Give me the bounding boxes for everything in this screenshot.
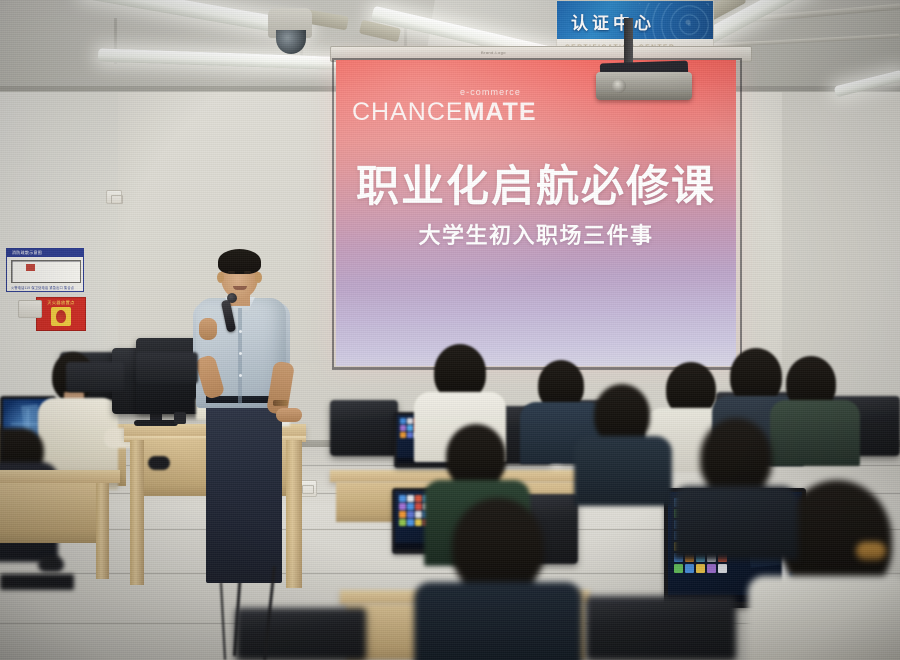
- monitor-stand: [174, 412, 186, 424]
- projector-lens-icon: [612, 79, 626, 93]
- housing-brand-label: Brand-Logo: [481, 50, 506, 55]
- student-torso: [414, 582, 582, 660]
- presenter-ear: [217, 272, 224, 283]
- presenter-mouth: [233, 286, 247, 290]
- presenter-trousers: [206, 398, 282, 583]
- monitor-foot: [134, 420, 178, 426]
- banner-chinese-text: 认证中心: [571, 9, 655, 34]
- keyboard[interactable]: [0, 574, 74, 590]
- logo-wordmark: CHANCEMATE: [352, 100, 537, 125]
- student-hair-tie: [856, 542, 886, 560]
- workstation-desk: [0, 470, 120, 483]
- student-head: [452, 498, 544, 594]
- presenter-right-hand: [276, 408, 302, 422]
- student-torso: [672, 486, 798, 560]
- student-head: [446, 424, 506, 488]
- presenter-eye: [228, 271, 235, 274]
- chair-back: [136, 352, 198, 384]
- evacuation-sign-header-text: 消防疏散示意图: [12, 250, 42, 256]
- student-torso: [574, 436, 672, 506]
- student-head: [594, 384, 650, 444]
- evacuation-map-sign: 消防疏散示意图 火警电话119 保卫处电话 紧急出口 集合点: [6, 248, 84, 292]
- presenter-hair: [218, 249, 261, 274]
- student-head: [700, 418, 772, 496]
- presenter-left-hand: [199, 318, 217, 340]
- desk-leg: [96, 483, 109, 579]
- student-torso: [748, 576, 900, 660]
- wall-switch-plate[interactable]: [18, 300, 42, 318]
- wristwatch: [273, 400, 288, 406]
- fire-sign-header-text: 灭火器放置点: [37, 300, 85, 306]
- classroom-photo: 认证中心 CERTIFICATION CENTER Brand-Logo e-c…: [0, 0, 900, 660]
- presenter-eye: [244, 271, 251, 274]
- computer-mouse[interactable]: [38, 556, 64, 572]
- evacuation-floorplan: [11, 260, 81, 283]
- logo-secondary-text: MATE: [464, 98, 537, 126]
- slide-subtitle: 大学生初入职场三件事: [336, 218, 736, 250]
- ceiling-projector: [596, 72, 692, 100]
- chair-back: [66, 362, 124, 392]
- computer-mouse[interactable]: [148, 456, 170, 470]
- student-torso: [770, 400, 860, 466]
- presenter-ear: [255, 272, 262, 283]
- desk-modesty-panel: [0, 483, 108, 543]
- fire-extinguisher-sign: 灭火器放置点: [36, 297, 86, 331]
- monitor: [586, 596, 736, 660]
- evacuation-sign-footer-text: 火警电话119 保卫处电话 紧急出口 集合点: [11, 285, 74, 290]
- evacuation-sign-header: 消防疏散示意图: [7, 249, 83, 257]
- monitor: [330, 400, 398, 456]
- presenter-shirt-placket: [238, 308, 242, 404]
- slide-title: 职业化启航必修课: [336, 152, 736, 214]
- desk-leg: [286, 440, 302, 588]
- logo-superscript: e-commerce: [460, 88, 521, 97]
- desk-leg: [130, 440, 144, 585]
- fire-extinguisher-icon: [51, 307, 71, 326]
- monitor: [236, 608, 366, 660]
- you-are-here-marker: [26, 264, 35, 271]
- wall-power-socket[interactable]: [106, 190, 122, 204]
- logo-primary-text: CHANCE: [352, 98, 464, 126]
- microphone-head-icon: [227, 293, 237, 303]
